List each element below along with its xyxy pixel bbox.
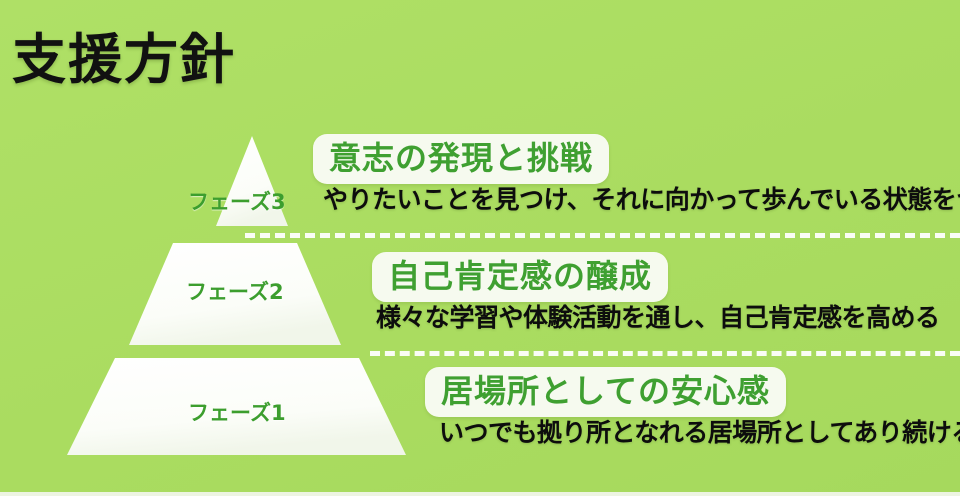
pyramid-tier-1-label: フェーズ1 bbox=[188, 397, 286, 427]
phase-3-heading-badge: 意志の発現と挑戦 bbox=[313, 134, 609, 184]
pyramid-tier-3-label: フェーズ3 bbox=[188, 186, 286, 216]
phase-2-description: 様々な学習や体験活動を通し、自己肯定感を高める bbox=[376, 304, 940, 332]
phase-3-text-block: 意志の発現と挑戦 やりたいことを見つけ、それに向かって歩んでいる状態をつくる bbox=[313, 134, 960, 214]
divider-phase2-phase1 bbox=[370, 351, 960, 356]
slide-canvas: 支援方針 フェーズ3 フェーズ2 フェーズ1 意志の発現と挑戦 やりたいことを見… bbox=[0, 0, 960, 496]
phase-1-description: いつでも拠り所となれる居場所としてあり続ける bbox=[439, 419, 960, 447]
phase-1-heading-badge: 居場所としての安心感 bbox=[425, 367, 786, 417]
phase-2-heading-badge: 自己肯定感の醸成 bbox=[372, 252, 668, 302]
phase-2-text-block: 自己肯定感の醸成 様々な学習や体験活動を通し、自己肯定感を高める bbox=[372, 252, 940, 332]
divider-phase3-phase2 bbox=[245, 233, 960, 238]
pyramid-tier-2-label: フェーズ2 bbox=[186, 276, 284, 306]
phase-3-description: やりたいことを見つけ、それに向かって歩んでいる状態をつくる bbox=[323, 186, 960, 214]
bottom-edge-strip bbox=[0, 492, 960, 496]
phase-1-text-block: 居場所としての安心感 いつでも拠り所となれる居場所としてあり続ける bbox=[425, 367, 960, 447]
